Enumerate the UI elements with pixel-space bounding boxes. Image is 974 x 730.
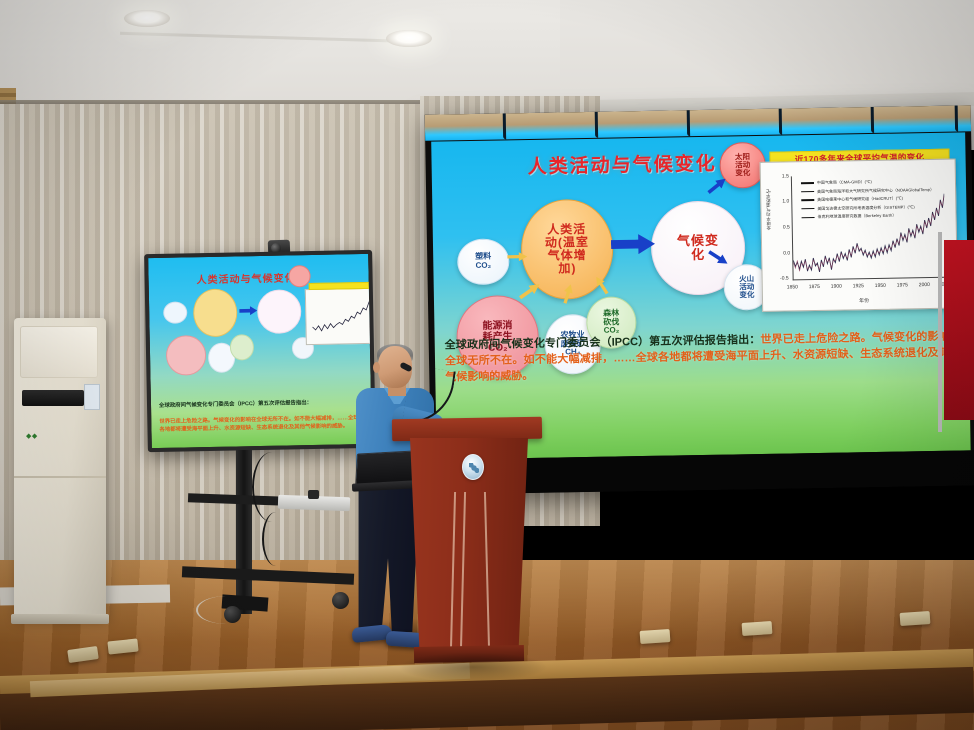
downlight-icon (386, 30, 432, 47)
bubble-human-line4: 加) (558, 262, 576, 275)
chart-legend: 中国气象局（CMA-GMD）(℃) 美国气象局海洋和大气研究所气候研究中心（NO… (801, 178, 935, 223)
chart-ytick: -0.5 (771, 275, 789, 281)
bubble-energy-line1: 能源消 (482, 320, 512, 332)
legend-swatch (801, 208, 814, 210)
ac-display-panel (22, 390, 84, 406)
slide-body-black: 全球政府间气候变化专门委员会（IPCC）第五次评估报告指出： (445, 334, 761, 352)
secondary-display-title: 人类活动与气候变化 (196, 269, 295, 286)
ac-seam (14, 476, 106, 478)
chart-xtick: 2000 (919, 282, 930, 288)
bubble-sun-line3: 变化 (735, 169, 750, 178)
legend-swatch (801, 182, 814, 184)
flag-pole-right (938, 232, 942, 432)
floor-socket-cover (640, 629, 671, 644)
floor-cable (196, 596, 256, 624)
chart-ytick: 1.5 (771, 173, 789, 179)
ac-vent (20, 326, 98, 378)
downlight-icon (124, 10, 170, 27)
legend-item: 中国气象局（CMA-GMD）(℃) (801, 178, 934, 186)
slide-title: 人类活动与气候变化 (527, 149, 716, 179)
ac-brand-logo: ◆◆ (26, 432, 38, 440)
chart-ytick: 0.5 (772, 224, 790, 230)
legend-label: 英国哈德莱中心和气候研究组（HadCRUT）(℃) (817, 196, 903, 203)
lecture-hall-scene: ◆◆ 人类活动与气候变化 全球政府间气候变化专门委员会（IPCC）第五次评估报告… (0, 0, 974, 730)
podium-top-surface (392, 417, 542, 442)
caster-wheel (332, 592, 349, 609)
legend-label: 美国戈达德太空研究所地表温度分析（GISTEMP）(℃) (817, 204, 914, 212)
chart-xtick: 1850 (787, 284, 798, 290)
legend-swatch (801, 199, 814, 201)
chart-ytick: 0.0 (772, 250, 790, 256)
bubble-plastic-line2: CO₂ (476, 262, 492, 271)
temperature-chart: 全球平均气温距平/℃ 1.5 1.0 0.5 0.0 -0.5 中国气象局（CM… (760, 159, 959, 312)
podium-shadow (398, 652, 548, 682)
power-cable (252, 452, 292, 522)
power-cable (262, 512, 290, 566)
secondary-chart-sparkline (311, 294, 374, 339)
chart-x-axis-label: 年份 (859, 297, 869, 304)
display-stand-post (236, 450, 252, 614)
presentation-slide: 人类活动与气候变化 塑料 CO₂ 人类活 动(温室 气体增 加) 能源消 耗产生… (431, 132, 970, 459)
air-conditioner: ◆◆ (14, 318, 106, 618)
speaker-ear (373, 362, 380, 373)
legend-label: 伯克利地球温度研究数据（Berkeley Earth） (818, 213, 897, 220)
podium-trim-line (450, 492, 456, 650)
legend-swatch (802, 217, 815, 219)
chart-xtick: 1925 (853, 283, 864, 289)
bubble-plastic: 塑料 CO₂ (457, 238, 510, 285)
chart-xtick: 1875 (809, 284, 820, 290)
slide-body-text: 全球政府间气候变化专门委员会（IPCC）第五次评估报告指出：世界已走上危险之路。… (445, 328, 962, 385)
chinese-flag-right (944, 240, 974, 420)
legend-item: 美国气象局海洋和大气研究所气候研究中心（NOAAGlobalTemp） (801, 187, 934, 195)
legend-item: 美国戈达德太空研究所地表温度分析（GISTEMP）(℃) (801, 204, 934, 212)
arrow-human-to-climate-icon (611, 234, 655, 255)
chart-ytick: 1.0 (771, 198, 789, 204)
legend-item: 英国哈德莱中心和气候研究组（HadCRUT）(℃) (801, 195, 934, 203)
legend-swatch (801, 191, 814, 193)
legend-item: 伯克利地球温度研究数据（Berkeley Earth） (802, 212, 935, 220)
chart-xtick: 1900 (831, 284, 842, 290)
bubble-volcano-line3: 变化 (739, 291, 754, 300)
podium (404, 418, 530, 668)
legend-label: 中国气象局（CMA-GMD）(℃) (817, 179, 872, 186)
secondary-display: 人类活动与气候变化 全球政府间气候变化专门委员会（IPCC）第五次评估报告指出：… (144, 250, 376, 452)
media-box-connector (308, 490, 319, 499)
floor-socket-cover (900, 611, 931, 626)
podium-trim-line (460, 492, 466, 650)
chart-xtick: 1950 (875, 283, 886, 289)
floor-socket-cover (742, 621, 773, 636)
legend-label: 美国气象局海洋和大气研究所气候研究中心（NOAAGlobalTemp） (817, 187, 934, 195)
podium-trim-line (484, 492, 490, 650)
bubble-climate-line2: 化 (691, 248, 705, 263)
chart-xtick: 1975 (897, 282, 908, 288)
ac-badge (84, 384, 100, 410)
podium-emblem-icon (462, 454, 484, 480)
ac-base (11, 614, 109, 624)
